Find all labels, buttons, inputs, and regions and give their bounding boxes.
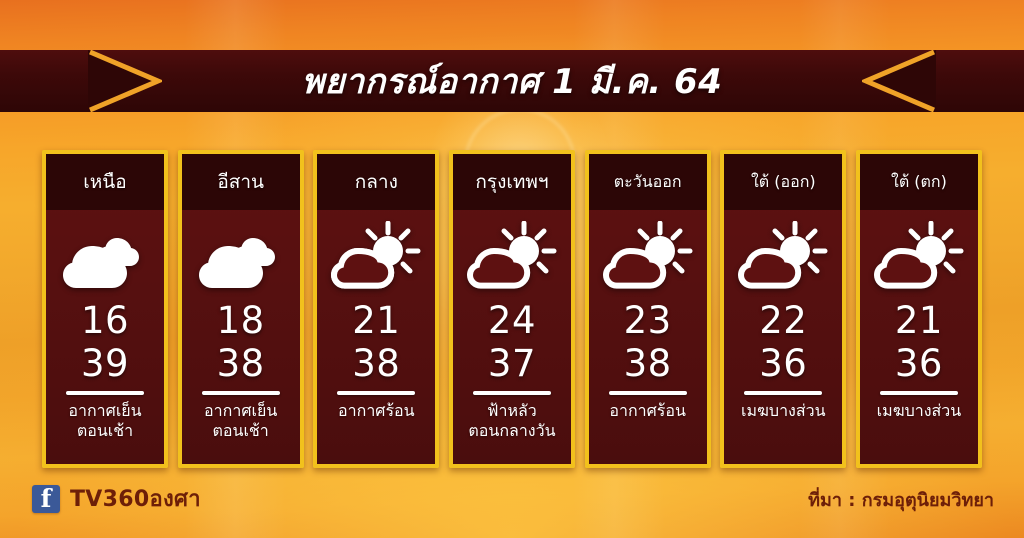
facebook-credit[interactable]: TV360องศา xyxy=(32,481,201,516)
title-banner: พยากรณ์อากาศ 1 มี.ค. 64 xyxy=(0,50,1024,112)
forecast-card-central[interactable]: กลาง xyxy=(313,150,439,468)
weather-description: เมฆบางส่วน xyxy=(737,401,830,421)
temp-max: 38 xyxy=(217,345,265,382)
temp-min: 18 xyxy=(217,302,265,339)
description-line: อากาศเย็น xyxy=(204,401,277,421)
temp-min: 23 xyxy=(624,302,672,339)
temp-max: 36 xyxy=(759,345,807,382)
weather-description: อากาศร้อน xyxy=(334,401,419,421)
temperature-block: 18 38 xyxy=(217,302,265,382)
card-body: 18 38 อากาศเย็น ตอนเช้า xyxy=(182,210,300,464)
description-line: ตอนกลางวัน xyxy=(468,421,555,441)
card-header: กรุงเทพฯ xyxy=(453,154,571,210)
temp-min: 22 xyxy=(759,302,807,339)
temperature-block: 21 38 xyxy=(352,302,400,382)
region-label: เหนือ xyxy=(83,173,126,192)
temp-min: 24 xyxy=(488,302,536,339)
divider xyxy=(202,391,280,395)
description-line: ฟ้าหลัว xyxy=(468,401,555,421)
card-header: อีสาน xyxy=(182,154,300,210)
temp-min: 21 xyxy=(352,302,400,339)
region-label: กลาง xyxy=(355,173,398,192)
card-header: กลาง xyxy=(317,154,435,210)
forecast-card-north[interactable]: เหนือ 16 39 อากาศเย็น xyxy=(42,150,168,468)
temperature-block: 23 38 xyxy=(624,302,672,382)
description-line: เมฆบางส่วน xyxy=(877,401,962,421)
temperature-block: 16 39 xyxy=(81,302,129,382)
region-label: ตะวันออก xyxy=(614,174,682,190)
forecast-card-south-west[interactable]: ใต้ (ตก) xyxy=(856,150,982,468)
cloudy-icon xyxy=(182,216,300,300)
region-label: กรุงเทพฯ xyxy=(475,173,548,192)
temp-max: 38 xyxy=(624,345,672,382)
description-line: อากาศร้อน xyxy=(338,401,415,421)
facebook-page-name: TV360องศา xyxy=(70,481,201,516)
temp-max: 38 xyxy=(352,345,400,382)
card-header: ใต้ (ตก) xyxy=(860,154,978,210)
temp-max: 39 xyxy=(81,345,129,382)
card-body: 22 36 เมฆบางส่วน xyxy=(724,210,842,464)
weather-description: อากาศเย็น ตอนเช้า xyxy=(64,401,145,441)
forecast-card-east[interactable]: ตะวันออก xyxy=(585,150,711,468)
divider xyxy=(744,391,822,395)
region-label: อีสาน xyxy=(217,173,264,192)
temperature-block: 22 36 xyxy=(759,302,807,382)
description-line: อากาศเย็น xyxy=(68,401,141,421)
temp-min: 16 xyxy=(81,302,129,339)
source-credit: ที่มา : กรมอุตุนิยมวิทยา xyxy=(808,485,994,514)
weather-description: อากาศร้อน xyxy=(605,401,690,421)
divider xyxy=(337,391,415,395)
temperature-block: 24 37 xyxy=(488,302,536,382)
card-body: 16 39 อากาศเย็น ตอนเช้า xyxy=(46,210,164,464)
temp-max: 36 xyxy=(895,345,943,382)
divider xyxy=(880,391,958,395)
divider xyxy=(473,391,551,395)
card-header: ตะวันออก xyxy=(589,154,707,210)
description-line: ตอนเช้า xyxy=(204,421,277,441)
card-body: 21 36 เมฆบางส่วน xyxy=(860,210,978,464)
sun-behind-cloud-icon xyxy=(860,216,978,300)
region-label: ใต้ (ตก) xyxy=(891,174,947,190)
weather-description: เมฆบางส่วน xyxy=(873,401,966,421)
divider xyxy=(66,391,144,395)
card-body: 24 37 ฟ้าหลัว ตอนกลางวัน xyxy=(453,210,571,464)
temp-min: 21 xyxy=(895,302,943,339)
facebook-icon[interactable] xyxy=(32,485,60,513)
forecast-card-row: เหนือ 16 39 อากาศเย็น xyxy=(42,150,982,468)
temperature-block: 21 36 xyxy=(895,302,943,382)
description-line: เมฆบางส่วน xyxy=(741,401,826,421)
sun-behind-cloud-icon xyxy=(453,216,571,300)
card-header: ใต้ (ออก) xyxy=(724,154,842,210)
temp-max: 37 xyxy=(488,345,536,382)
card-body: 21 38 อากาศร้อน xyxy=(317,210,435,464)
forecast-card-isaan[interactable]: อีสาน 18 38 อากาศเย็น xyxy=(178,150,304,468)
sun-behind-cloud-icon xyxy=(317,216,435,300)
card-body: 23 38 อากาศร้อน xyxy=(589,210,707,464)
infographic-canvas: พยากรณ์อากาศ 1 มี.ค. 64 เหนือ 16 xyxy=(0,0,1024,538)
sun-behind-cloud-icon xyxy=(724,216,842,300)
description-line: ตอนเช้า xyxy=(68,421,141,441)
region-label: ใต้ (ออก) xyxy=(751,174,816,190)
sun-behind-cloud-icon xyxy=(589,216,707,300)
forecast-card-bangkok[interactable]: กรุงเทพฯ xyxy=(449,150,575,468)
description-line: อากาศร้อน xyxy=(609,401,686,421)
forecast-card-south-east[interactable]: ใต้ (ออก) xyxy=(720,150,846,468)
page-title: พยากรณ์อากาศ 1 มี.ค. 64 xyxy=(0,50,1024,112)
divider xyxy=(609,391,687,395)
weather-description: อากาศเย็น ตอนเช้า xyxy=(200,401,281,441)
weather-description: ฟ้าหลัว ตอนกลางวัน xyxy=(464,401,559,441)
card-header: เหนือ xyxy=(46,154,164,210)
cloudy-icon xyxy=(46,216,164,300)
